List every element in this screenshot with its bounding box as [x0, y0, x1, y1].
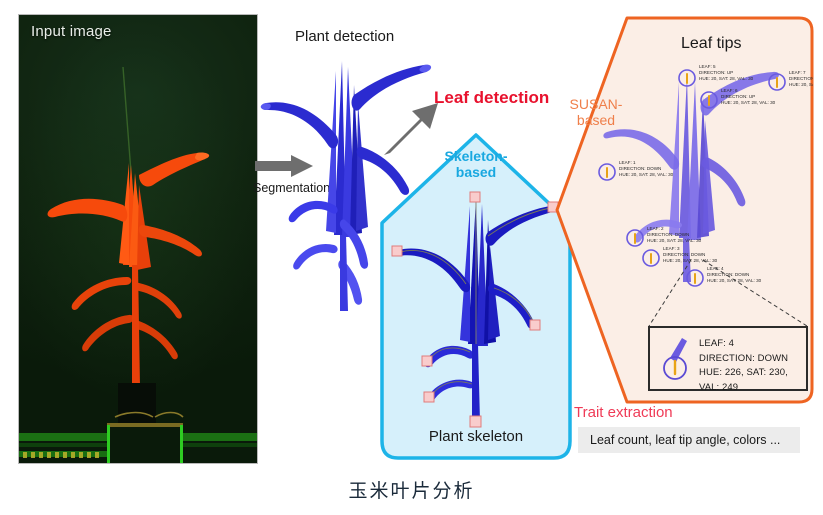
svg-text:LEAF: 7: LEAF: 7	[789, 70, 806, 75]
svg-text:DIRECTION: DOWN: DIRECTION: DOWN	[647, 232, 689, 237]
callout-leaf-id: LEAF: 4	[699, 337, 806, 352]
svg-text:LEAF: 2: LEAF: 2	[647, 226, 664, 231]
callout-text-block: LEAF: 4 DIRECTION: DOWN HUE: 226, SAT: 2…	[699, 337, 806, 396]
plant-detection-title: Plant detection	[295, 28, 394, 45]
svg-text:HUE: 20, SAT: 28, VAL: 30: HUE: 20, SAT: 28, VAL: 30	[647, 238, 702, 243]
svg-text:HUE: 20, SAT: 28, VAL: 30: HUE: 20, SAT: 28, VAL: 30	[699, 76, 754, 81]
svg-text:HUE: 20, SAT: 28, VAL: 30: HUE: 20, SAT: 28, VAL: 30	[789, 82, 813, 87]
svg-text:LEAF: 3: LEAF: 3	[663, 246, 680, 251]
leaf-tip-callout: LEAF: 4 DIRECTION: DOWN HUE: 226, SAT: 2…	[648, 326, 808, 391]
svg-text:LEAF: 1: LEAF: 1	[619, 160, 636, 165]
svg-text:HUE: 20, SAT: 28, VAL: 30: HUE: 20, SAT: 28, VAL: 30	[707, 278, 762, 283]
svg-text:HUE: 20, SAT: 28, VAL: 30: HUE: 20, SAT: 28, VAL: 30	[721, 100, 776, 105]
skeleton-method-line1: Skeleton-	[421, 149, 531, 165]
svg-text:LEAF: 4: LEAF: 4	[707, 266, 724, 271]
svg-text:DIRECTION: DOWN: DIRECTION: DOWN	[663, 252, 705, 257]
skeleton-panel-caption: Plant skeleton	[429, 428, 523, 445]
input-image-panel: Input image	[18, 14, 258, 464]
leaf-tips-plant-image: LEAF: 5 DIRECTION: UP HUE: 20, SAT: 28, …	[591, 52, 813, 302]
svg-text:HUE: 20, SAT: 28, VAL: 30: HUE: 20, SAT: 28, VAL: 30	[663, 258, 718, 263]
diagram-page: Input image Plant detection Segmentation	[0, 0, 823, 515]
svg-text:LEAF: 5: LEAF: 5	[699, 64, 716, 69]
callout-direction: DIRECTION: DOWN	[699, 352, 806, 367]
svg-text:DIRECTION: DOWN: DIRECTION: DOWN	[789, 76, 813, 81]
skeleton-method-label: Skeleton- based	[421, 149, 531, 180]
input-plant-photo	[19, 15, 257, 463]
trait-extraction-value: Leaf count, leaf tip angle, colors ...	[578, 433, 780, 447]
susan-panel-title: Leaf tips	[681, 35, 741, 53]
callout-leaf-tip-icon	[660, 336, 696, 384]
callout-hue-sat-val: HUE: 226, SAT: 230, VAL: 249	[699, 366, 806, 395]
trait-extraction-box: Leaf count, leaf tip angle, colors ...	[578, 427, 800, 453]
input-image-label: Input image	[31, 23, 112, 40]
leaf-detection-title: Leaf detection	[434, 88, 549, 108]
skeleton-plant-image	[384, 186, 568, 436]
susan-panel: Leaf tips SUSAN- based	[553, 14, 816, 406]
svg-text:DIRECTION: DOWN: DIRECTION: DOWN	[707, 272, 749, 277]
skeleton-method-line2: based	[421, 165, 531, 181]
svg-text:LEAF: 6: LEAF: 6	[721, 88, 738, 93]
svg-text:DIRECTION: UP: DIRECTION: UP	[699, 70, 733, 75]
trait-extraction-title: Trait extraction	[574, 404, 673, 421]
skeleton-panel: Skeleton- based	[378, 131, 574, 462]
figure-caption: 玉米叶片分析	[0, 476, 823, 503]
svg-text:DIRECTION: UP: DIRECTION: UP	[721, 94, 755, 99]
svg-text:HUE: 20, SAT: 28, VAL: 30: HUE: 20, SAT: 28, VAL: 30	[619, 172, 674, 177]
svg-text:DIRECTION: DOWN: DIRECTION: DOWN	[619, 166, 661, 171]
